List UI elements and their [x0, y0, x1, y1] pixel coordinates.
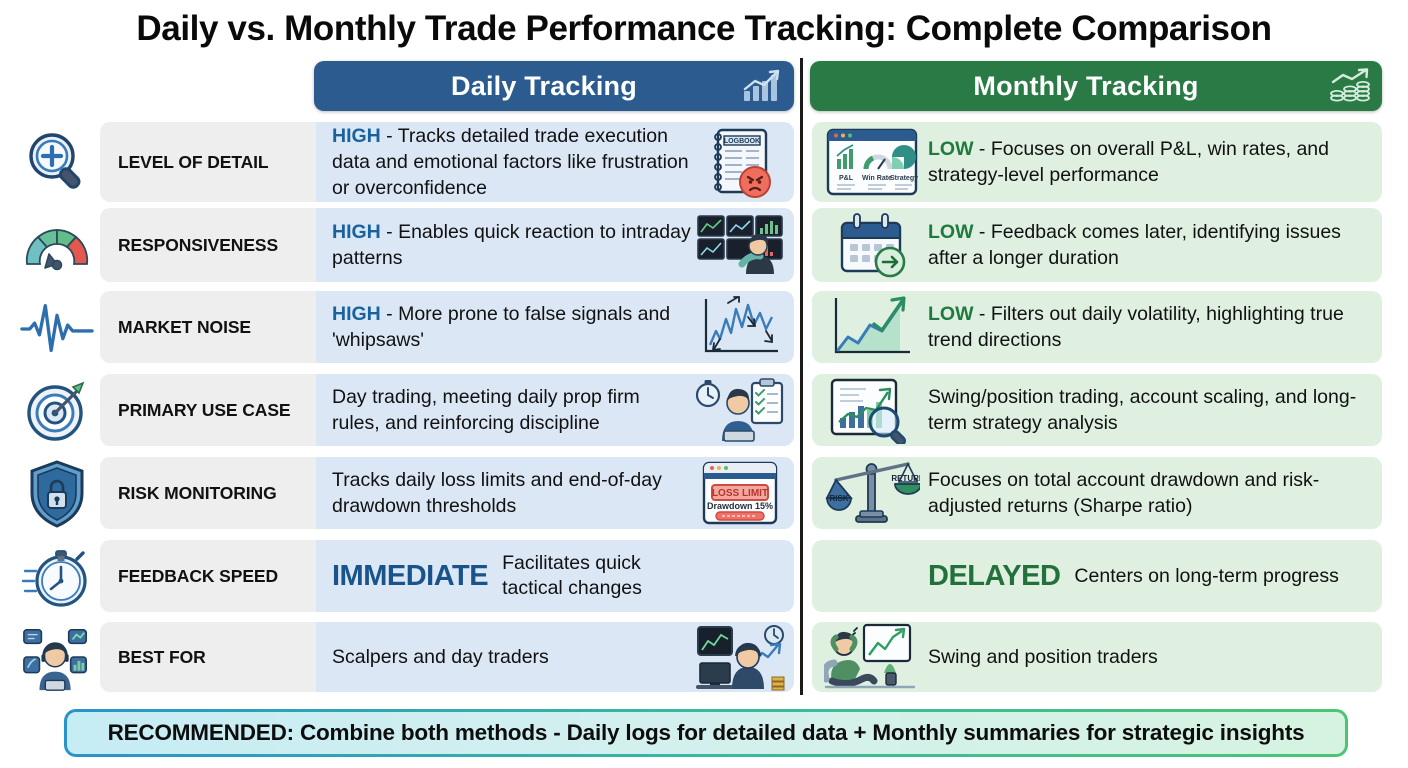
- monthly-cell: Swing and position traders: [812, 622, 1382, 692]
- monthly-cell: RISK RETURN Focuses on total account dra…: [812, 457, 1382, 529]
- loss-limit-alert-window-icon: LOSS LIMIT Drawdown 15%: [692, 457, 788, 529]
- daily-cell-text: Scalpers and day traders: [332, 644, 692, 670]
- target-dart-icon: [20, 380, 94, 442]
- volatile-zigzag-chart-icon: [692, 291, 788, 363]
- daily-cell-text: HIGH - Tracks detailed trade execution d…: [332, 123, 692, 201]
- column-header-daily-label: Daily Tracking: [314, 71, 740, 102]
- table-row: RESPONSIVENESS HIGH - Enables quick reac…: [0, 208, 1408, 288]
- svg-text:P&L: P&L: [839, 175, 854, 182]
- table-row: FEEDBACK SPEED IMMEDIATE Facilitates qui…: [0, 540, 1408, 618]
- svg-text:LOGBOOK: LOGBOOK: [724, 138, 760, 145]
- row-label-text: FEEDBACK SPEED: [118, 566, 278, 587]
- monthly-text: Centers on long-term progress: [1074, 564, 1338, 589]
- monthly-cell: LOW - Feedback comes later, identifying …: [812, 208, 1382, 282]
- row-label: RESPONSIVENESS: [100, 208, 316, 282]
- svg-text:Win Rate: Win Rate: [862, 175, 892, 182]
- monthly-keyword: LOW: [928, 221, 973, 243]
- bar-chart-growth-icon: [740, 69, 794, 103]
- page-title: Daily vs. Monthly Trade Performance Trac…: [0, 6, 1408, 52]
- daily-text: Day trading, meeting daily prop firm rul…: [332, 386, 640, 434]
- recommendation-text: RECOMMENDED: Combine both methods - Dail…: [67, 712, 1345, 754]
- monthly-cell-text: Swing and position traders: [924, 644, 1368, 670]
- daily-cell-text: IMMEDIATE Facilitates quick tactical cha…: [332, 551, 692, 601]
- monthly-cell-text: LOW - Filters out daily volatility, high…: [924, 301, 1368, 353]
- row-label-text: LEVEL OF DETAIL: [118, 152, 269, 173]
- monthly-keyword: LOW: [928, 138, 973, 160]
- monthly-cell-text: Focuses on total account drawdown and ri…: [924, 467, 1368, 519]
- risk-return-scale-icon: RISK RETURN: [820, 457, 924, 529]
- monthly-keyword: DELAYED: [928, 563, 1060, 589]
- daily-cell: Tracks daily loss limits and end-of-day …: [316, 457, 794, 529]
- table-row: LEVEL OF DETAIL HIGH - Tracks detailed t…: [0, 118, 1408, 206]
- daily-cell-text: Tracks daily loss limits and end-of-day …: [332, 467, 692, 519]
- row-label: RISK MONITORING: [100, 457, 316, 529]
- chart-magnifier-analysis-icon: [820, 374, 924, 446]
- monthly-cell: P&L Win Rate Strategy LOW - Focuses on o…: [812, 122, 1382, 202]
- svg-text:LOSS LIMIT: LOSS LIMIT: [712, 488, 768, 499]
- waveform-pulse-icon: [20, 297, 94, 359]
- column-header-monthly: Monthly Tracking: [810, 61, 1382, 111]
- monthly-cell-text: LOW - Feedback comes later, identifying …: [924, 219, 1368, 271]
- row-label-text: RESPONSIVENESS: [118, 235, 278, 256]
- daily-cell: HIGH - Tracks detailed trade execution d…: [316, 122, 794, 202]
- calendar-arrow-icon: [820, 208, 924, 282]
- row-label-text: BEST FOR: [118, 647, 206, 668]
- column-header-daily: Daily Tracking: [314, 61, 794, 111]
- daily-cell: Scalpers and day traders: [316, 622, 794, 692]
- daily-cell: HIGH - Enables quick reaction to intrada…: [316, 208, 794, 282]
- trader-multi-monitor-icon: [692, 208, 788, 282]
- daily-text: Facilitates quick tactical changes: [502, 551, 692, 601]
- gauge-speedometer-icon: [20, 216, 94, 280]
- table-row: RISK MONITORING Tracks daily loss limits…: [0, 457, 1408, 535]
- daily-cell: HIGH - More prone to false signals and '…: [316, 291, 794, 363]
- daily-text: - Tracks detailed trade execution data a…: [332, 125, 689, 199]
- daily-cell-text: HIGH - Enables quick reaction to intrada…: [332, 219, 692, 271]
- dashboard-window-icon: P&L Win Rate Strategy: [820, 122, 924, 202]
- monthly-text: Focuses on total account drawdown and ri…: [928, 469, 1319, 517]
- daily-text: - Enables quick reaction to intraday pat…: [332, 221, 691, 269]
- row-label: BEST FOR: [100, 622, 316, 692]
- monthly-cell-text: DELAYED Centers on long-term progress: [924, 563, 1368, 589]
- table-row: PRIMARY USE CASE Day trading, meeting da…: [0, 374, 1408, 452]
- stopwatch-trader-checklist-icon: [692, 374, 788, 446]
- row-label-text: MARKET NOISE: [118, 317, 251, 338]
- recommendation-banner: RECOMMENDED: Combine both methods - Dail…: [64, 709, 1348, 757]
- monthly-cell: DELAYED Centers on long-term progress: [812, 540, 1382, 612]
- magnifier-plus-icon: [20, 129, 94, 195]
- svg-text:Strategy: Strategy: [890, 175, 918, 182]
- daily-keyword: HIGH: [332, 125, 381, 147]
- monthly-cell: LOW - Filters out daily volatility, high…: [812, 291, 1382, 363]
- row-label: LEVEL OF DETAIL: [100, 122, 316, 202]
- coins-growth-icon: [1328, 68, 1382, 104]
- svg-text:RETURN: RETURN: [891, 474, 920, 483]
- column-header-monthly-label: Monthly Tracking: [810, 71, 1328, 102]
- daily-keyword: HIGH: [332, 303, 381, 325]
- daily-keyword: HIGH: [332, 221, 381, 243]
- row-label: MARKET NOISE: [100, 291, 316, 363]
- monthly-cell-text: Swing/position trading, account scaling,…: [924, 384, 1368, 436]
- monthly-text: - Feedback comes later, identifying issu…: [928, 221, 1341, 269]
- daily-cell: Day trading, meeting daily prop firm rul…: [316, 374, 794, 446]
- monthly-text: - Focuses on overall P&L, win rates, and…: [928, 138, 1329, 186]
- daily-text: Tracks daily loss limits and end-of-day …: [332, 469, 662, 517]
- daily-keyword: IMMEDIATE: [332, 563, 488, 589]
- infographic-root: Daily vs. Monthly Trade Performance Trac…: [0, 0, 1408, 768]
- daily-cell-text: Day trading, meeting daily prop firm rul…: [332, 384, 692, 436]
- monthly-cell-text: LOW - Focuses on overall P&L, win rates,…: [924, 136, 1368, 188]
- row-label: PRIMARY USE CASE: [100, 374, 316, 446]
- no-art: [692, 540, 788, 612]
- support-agent-charts-icon: [20, 624, 94, 692]
- logbook-angry-face-icon: LOGBOOK: [692, 122, 788, 202]
- daily-text: - More prone to false signals and 'whips…: [332, 303, 670, 351]
- monthly-cell: Swing/position trading, account scaling,…: [812, 374, 1382, 446]
- no-art: [820, 540, 924, 612]
- svg-text:RISK: RISK: [829, 494, 848, 503]
- row-label-text: PRIMARY USE CASE: [118, 400, 290, 421]
- monthly-text: Swing/position trading, account scaling,…: [928, 386, 1356, 434]
- daily-cell: IMMEDIATE Facilitates quick tactical cha…: [316, 540, 794, 612]
- monthly-text: - Filters out daily volatility, highligh…: [928, 303, 1344, 351]
- relaxed-trader-chart-icon: [820, 622, 924, 692]
- monthly-keyword: LOW: [928, 303, 973, 325]
- svg-text:Drawdown 15%: Drawdown 15%: [707, 501, 773, 511]
- monthly-text: Swing and position traders: [928, 646, 1158, 668]
- row-label: FEEDBACK SPEED: [100, 540, 316, 612]
- table-row: MARKET NOISE HIGH - More prone to false …: [0, 291, 1408, 369]
- day-trader-desk-icon: [692, 622, 788, 692]
- smooth-uptrend-area-chart-icon: [820, 291, 924, 363]
- stopwatch-clock-icon: [20, 544, 94, 610]
- daily-text: Scalpers and day traders: [332, 646, 549, 668]
- table-row: BEST FOR Scalpers and day traders: [0, 622, 1408, 696]
- daily-cell-text: HIGH - More prone to false signals and '…: [332, 301, 692, 353]
- row-label-text: RISK MONITORING: [118, 483, 277, 504]
- shield-lock-icon: [20, 461, 94, 527]
